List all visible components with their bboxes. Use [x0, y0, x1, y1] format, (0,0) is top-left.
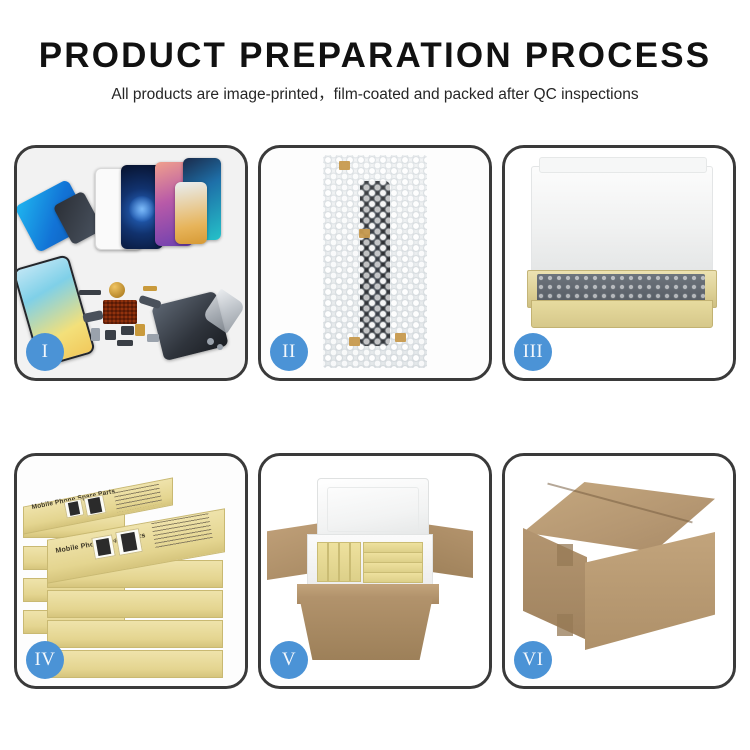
step-badge-5: V [270, 641, 308, 679]
packed-yellow-box [339, 542, 350, 582]
box-label-window [64, 498, 85, 518]
tape-strip [395, 333, 406, 342]
step-badge-4: IV [26, 641, 64, 679]
small-part [143, 286, 157, 291]
process-step-panel-5[interactable]: V [258, 453, 492, 689]
carton-front-panel [299, 596, 433, 660]
stacked-box [47, 590, 223, 618]
product-preparation-infographic: PRODUCT PREPARATION PROCESS All products… [0, 0, 750, 750]
header: PRODUCT PREPARATION PROCESS All products… [0, 0, 750, 103]
packed-yellow-box [350, 542, 361, 582]
small-part [147, 334, 159, 342]
process-step-grid: I II [14, 145, 736, 689]
logic-board [103, 300, 137, 324]
page-subtitle: All products are image-printed，film-coat… [0, 87, 750, 103]
tape-strip [359, 229, 370, 238]
small-part [117, 340, 133, 346]
process-step-panel-1[interactable]: I [14, 145, 248, 381]
box-label-window [115, 528, 143, 556]
screw [207, 338, 214, 345]
stacked-box [47, 650, 223, 678]
process-step-panel-2[interactable]: II [258, 145, 492, 381]
screw [217, 344, 223, 350]
step-badge-3: III [514, 333, 552, 371]
small-part [79, 290, 101, 295]
box-label-window [91, 534, 116, 559]
packed-yellow-box [317, 542, 328, 582]
phone-gold [175, 182, 207, 244]
tape-strip [349, 337, 360, 346]
kraft-box-front-panel [531, 300, 713, 328]
process-step-panel-4[interactable]: Mobile Phone Spare Parts Mobile Phone Sp… [14, 453, 248, 689]
process-step-panel-3[interactable]: III [502, 145, 736, 381]
carton-tape [557, 614, 573, 636]
box-label-window [83, 494, 106, 516]
small-part [135, 324, 145, 336]
speaker-component [109, 282, 125, 298]
small-part [121, 326, 134, 335]
bubble-wrapped-contents [537, 274, 705, 302]
step-badge-2: II [270, 333, 308, 371]
small-part [105, 330, 116, 340]
carton-tape [557, 544, 573, 566]
step-badge-6: VI [514, 641, 552, 679]
process-step-panel-6[interactable]: VI [502, 453, 736, 689]
packed-yellow-box [363, 572, 423, 583]
foam-lid-insert [531, 166, 713, 278]
packed-yellow-box [328, 542, 339, 582]
stacked-box [47, 620, 223, 648]
step-badge-1: I [26, 333, 64, 371]
page-title: PRODUCT PREPARATION PROCESS [0, 38, 750, 73]
foam-box-lid [317, 478, 429, 542]
tape-strip [339, 161, 350, 170]
small-part [91, 328, 100, 341]
bubble-wrap-bag [323, 155, 427, 368]
